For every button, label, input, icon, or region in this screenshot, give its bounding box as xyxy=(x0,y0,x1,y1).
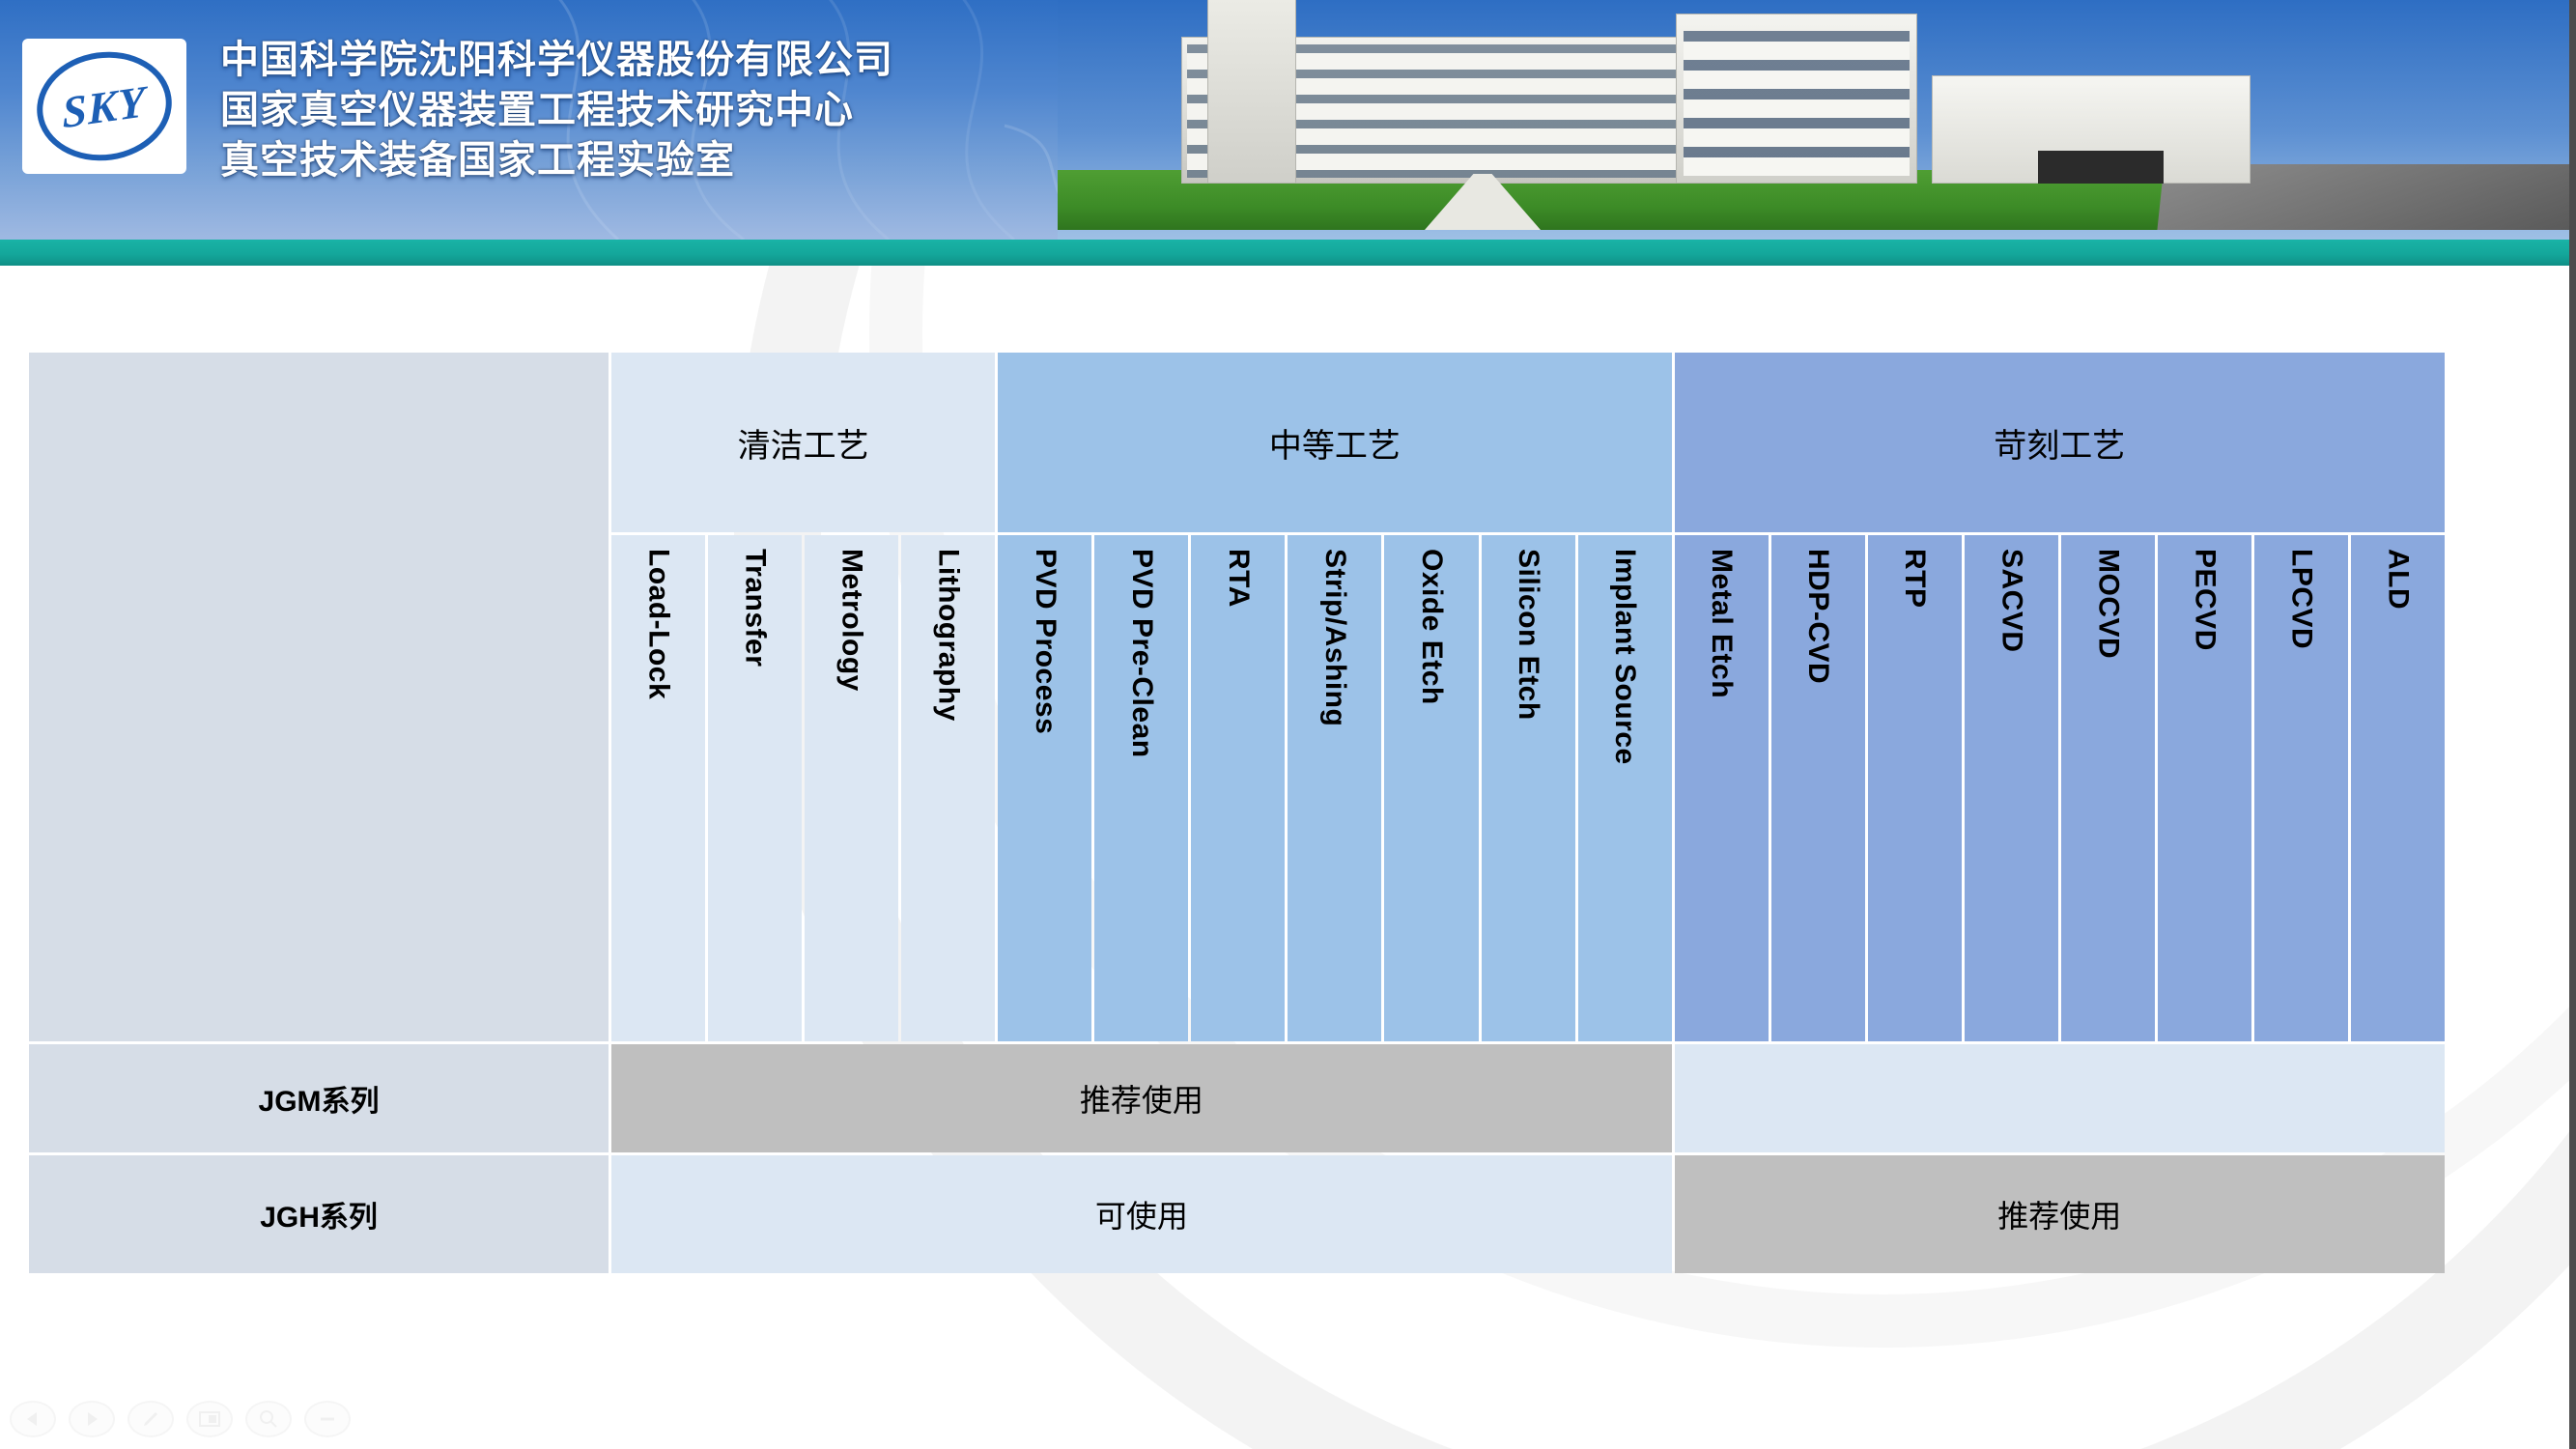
photo-warehouse-building xyxy=(1932,75,2250,184)
group-header-cell: 中等工艺 xyxy=(998,353,1671,532)
company-line-3: 真空技术装备国家工程实验室 xyxy=(220,135,1070,185)
column-header-label: Strip/Ashing xyxy=(1318,549,1351,726)
logo-oval: SKY xyxy=(30,43,179,169)
facility-photo xyxy=(1058,0,2576,240)
slides-icon xyxy=(198,1409,221,1429)
photo-side-building-windows xyxy=(1684,31,1910,176)
column-header-rotator: SACVD xyxy=(1965,535,2058,1041)
column-header-cell: PVD Process xyxy=(998,535,1091,1041)
column-header-cell: LPCVD xyxy=(2254,535,2348,1041)
column-header-label: LPCVD xyxy=(2284,549,2317,649)
column-header-label: Metal Etch xyxy=(1705,549,1738,698)
table-cell: 推荐使用 xyxy=(611,1044,1672,1152)
column-header-rotator: Metal Etch xyxy=(1675,535,1769,1041)
column-header-rotator: Lithography xyxy=(901,535,995,1041)
column-header-label: Load-Lock xyxy=(642,549,675,699)
column-header-cell: Implant Source xyxy=(1578,535,1672,1041)
table-cell: 推荐使用 xyxy=(1675,1155,2445,1273)
column-header-label: RTA xyxy=(1222,549,1255,608)
pen-icon xyxy=(140,1408,161,1430)
photo-side-building xyxy=(1676,14,1917,184)
column-header-cell: ALD xyxy=(2351,535,2445,1041)
column-header-label: SACVD xyxy=(1995,549,2027,653)
column-header-label: PVD Process xyxy=(1029,549,1062,734)
column-header-rotator: LPCVD xyxy=(2254,535,2348,1041)
minus-icon xyxy=(317,1414,338,1424)
slide-menu-button[interactable] xyxy=(186,1401,233,1437)
row-label-cell: JGH系列 xyxy=(29,1155,609,1273)
column-header-label: Metrology xyxy=(835,549,868,692)
column-header-label: Oxide Etch xyxy=(1415,549,1448,705)
column-header-label: Lithography xyxy=(932,549,965,722)
column-header-rotator: Transfer xyxy=(708,535,802,1041)
company-logo: SKY xyxy=(22,39,186,174)
column-header-label: Transfer xyxy=(739,549,772,667)
column-header-rotator: Oxide Etch xyxy=(1384,535,1478,1041)
teal-divider-bar xyxy=(0,240,2576,266)
column-header-cell: Transfer xyxy=(708,535,802,1041)
window-right-edge xyxy=(2569,0,2576,1449)
table-cell xyxy=(1675,1044,2445,1152)
column-header-label: PVD Pre-Clean xyxy=(1125,549,1158,758)
column-header-rotator: Metrology xyxy=(805,535,898,1041)
column-header-rotator: RTA xyxy=(1191,535,1285,1041)
column-header-rotator: Load-Lock xyxy=(611,535,705,1041)
column-header-label: Implant Source xyxy=(1608,549,1641,765)
column-header-label: MOCVD xyxy=(2091,549,2124,659)
column-header-label: Silicon Etch xyxy=(1512,549,1544,721)
triangle-left-icon xyxy=(23,1409,42,1429)
zoom-button[interactable] xyxy=(245,1401,292,1437)
column-header-rotator: Implant Source xyxy=(1578,535,1672,1041)
column-header-rotator: PECVD xyxy=(2158,535,2251,1041)
column-header-cell: PECVD xyxy=(2158,535,2251,1041)
column-header-label: RTP xyxy=(1898,549,1931,609)
column-header-rotator: Silicon Etch xyxy=(1482,535,1575,1041)
column-header-rotator: MOCVD xyxy=(2061,535,2155,1041)
column-header-cell: Oxide Etch xyxy=(1384,535,1478,1041)
table-row: JGH系列可使用推荐使用 xyxy=(29,1155,2445,1273)
column-header-rotator: RTP xyxy=(1868,535,1962,1041)
column-header-cell: Metrology xyxy=(805,535,898,1041)
column-header-cell: Lithography xyxy=(901,535,995,1041)
column-header-cell: PVD Pre-Clean xyxy=(1094,535,1188,1041)
header-banner: SKY 中国科学院沈阳科学仪器股份有限公司 国家真空仪器装置工程技术研究中心 真… xyxy=(0,0,2576,240)
column-header-cell: RTP xyxy=(1868,535,1962,1041)
column-header-cell: RTA xyxy=(1191,535,1285,1041)
column-header-cell: MOCVD xyxy=(2061,535,2155,1041)
column-header-label: HDP-CVD xyxy=(1801,549,1834,684)
column-header-label: ALD xyxy=(2381,549,2414,610)
row-label-cell: JGM系列 xyxy=(29,1044,609,1152)
table-cell: 可使用 xyxy=(611,1155,1672,1273)
column-header-rotator: PVD Pre-Clean xyxy=(1094,535,1188,1041)
group-header-cell: 清洁工艺 xyxy=(611,353,995,532)
company-line-1: 中国科学院沈阳科学仪器股份有限公司 xyxy=(220,35,1070,85)
triangle-right-icon xyxy=(82,1409,101,1429)
table-corner-cell xyxy=(29,353,609,1041)
column-header-cell: Metal Etch xyxy=(1675,535,1769,1041)
column-header-rotator: ALD xyxy=(2351,535,2445,1041)
table-group-header-row: 清洁工艺中等工艺苛刻工艺 xyxy=(29,353,2445,532)
previous-slide-button[interactable] xyxy=(10,1401,56,1437)
magnifier-icon xyxy=(258,1408,279,1430)
slideshow-navigation-bar[interactable] xyxy=(10,1401,351,1437)
next-slide-button[interactable] xyxy=(69,1401,115,1437)
pen-tool-button[interactable] xyxy=(127,1401,174,1437)
photo-tower xyxy=(1207,0,1296,184)
column-header-rotator: Strip/Ashing xyxy=(1288,535,1381,1041)
column-header-rotator: HDP-CVD xyxy=(1771,535,1865,1041)
table-row: JGM系列推荐使用 xyxy=(29,1044,2445,1152)
company-line-2: 国家真空仪器装置工程技术研究中心 xyxy=(220,85,1070,135)
photo-warehouse-door xyxy=(2038,151,2164,184)
column-header-cell: Strip/Ashing xyxy=(1288,535,1381,1041)
column-header-cell: Silicon Etch xyxy=(1482,535,1575,1041)
process-compatibility-table: 清洁工艺中等工艺苛刻工艺Load-LockTransferMetrologyLi… xyxy=(26,350,2448,1285)
group-header-cell: 苛刻工艺 xyxy=(1675,353,2445,532)
column-header-rotator: PVD Process xyxy=(998,535,1091,1041)
more-options-button[interactable] xyxy=(304,1401,351,1437)
logo-text: SKY xyxy=(62,74,147,137)
column-header-cell: SACVD xyxy=(1965,535,2058,1041)
column-header-label: PECVD xyxy=(2188,549,2221,651)
column-header-cell: HDP-CVD xyxy=(1771,535,1865,1041)
company-name-block: 中国科学院沈阳科学仪器股份有限公司 国家真空仪器装置工程技术研究中心 真空技术装… xyxy=(220,35,1070,185)
column-header-cell: Load-Lock xyxy=(611,535,705,1041)
